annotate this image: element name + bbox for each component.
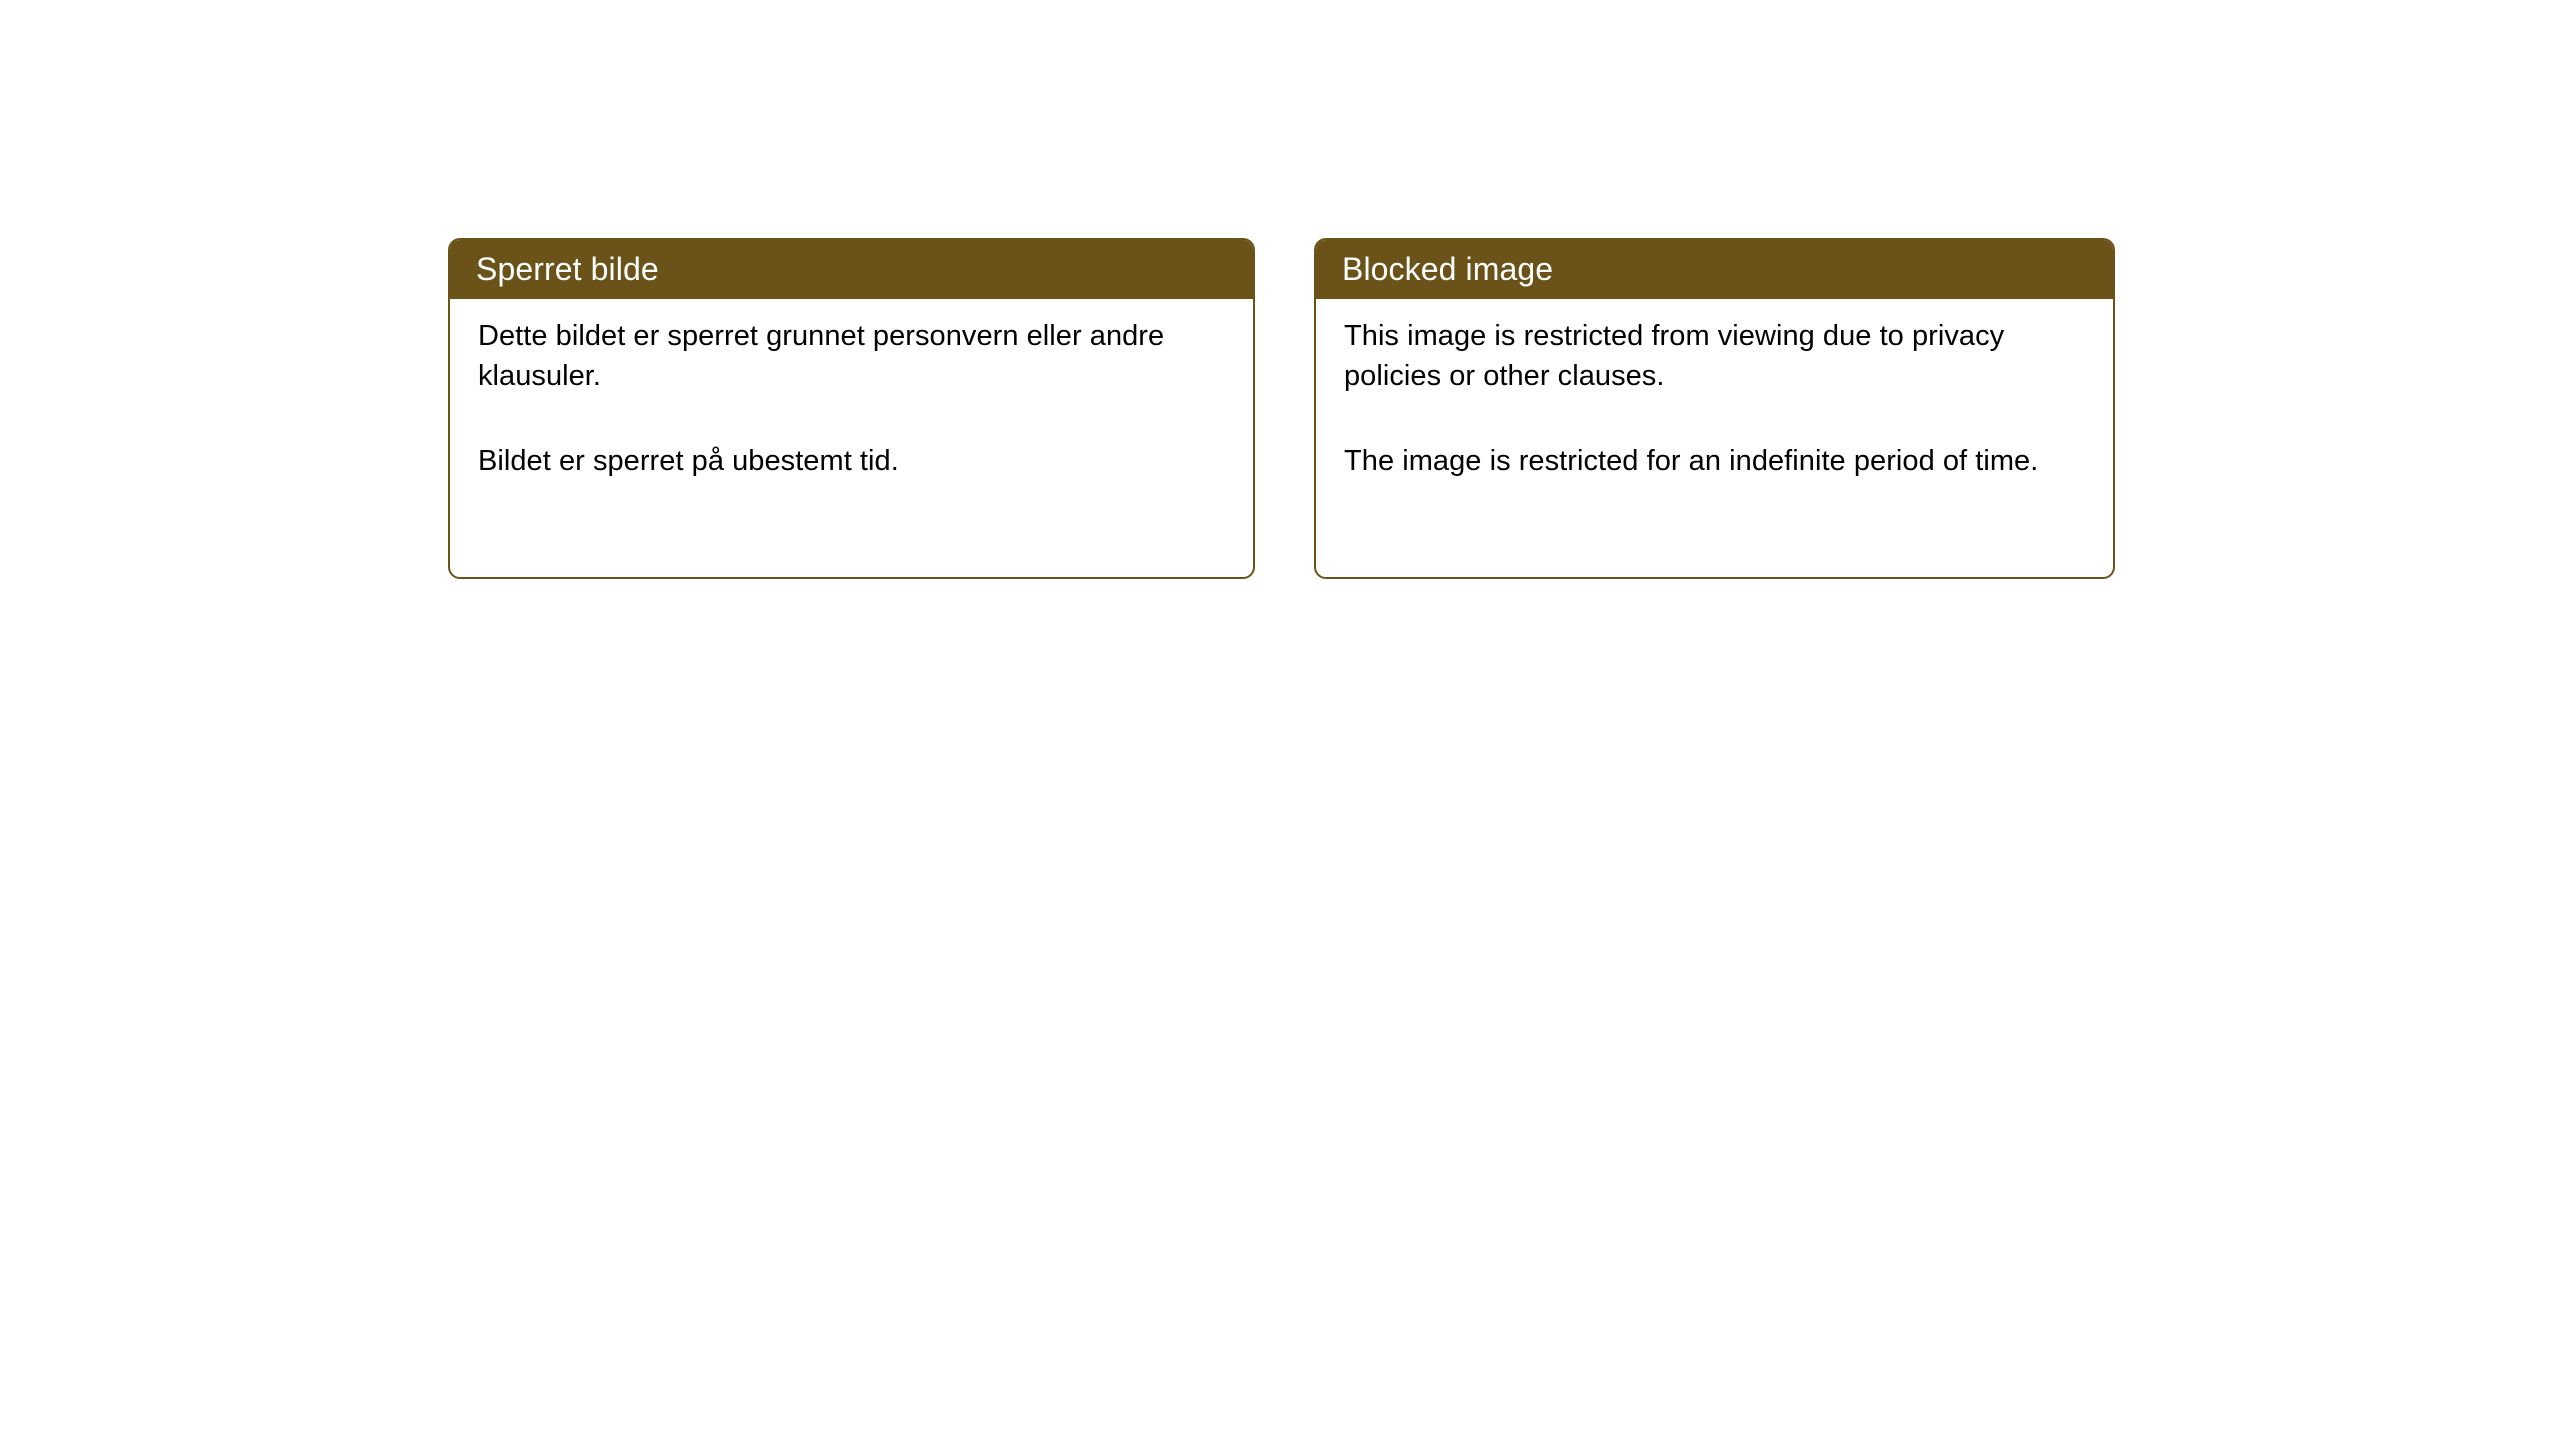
blocked-image-notice-group: Sperret bilde Dette bildet er sperret gr… [448, 238, 2115, 579]
card-body-norwegian: Dette bildet er sperret grunnet personve… [450, 299, 1253, 577]
card-message-primary-english: This image is restricted from viewing du… [1344, 316, 2089, 396]
blocked-image-card-english: Blocked image This image is restricted f… [1314, 238, 2115, 579]
card-message-primary-norwegian: Dette bildet er sperret grunnet personve… [478, 316, 1229, 396]
card-message-secondary-norwegian: Bildet er sperret på ubestemt tid. [478, 441, 1229, 481]
card-body-english: This image is restricted from viewing du… [1316, 299, 2113, 577]
card-title-english: Blocked image [1316, 240, 2113, 299]
blocked-image-card-norwegian: Sperret bilde Dette bildet er sperret gr… [448, 238, 1255, 579]
card-title-norwegian: Sperret bilde [450, 240, 1253, 299]
card-message-secondary-english: The image is restricted for an indefinit… [1344, 441, 2089, 481]
